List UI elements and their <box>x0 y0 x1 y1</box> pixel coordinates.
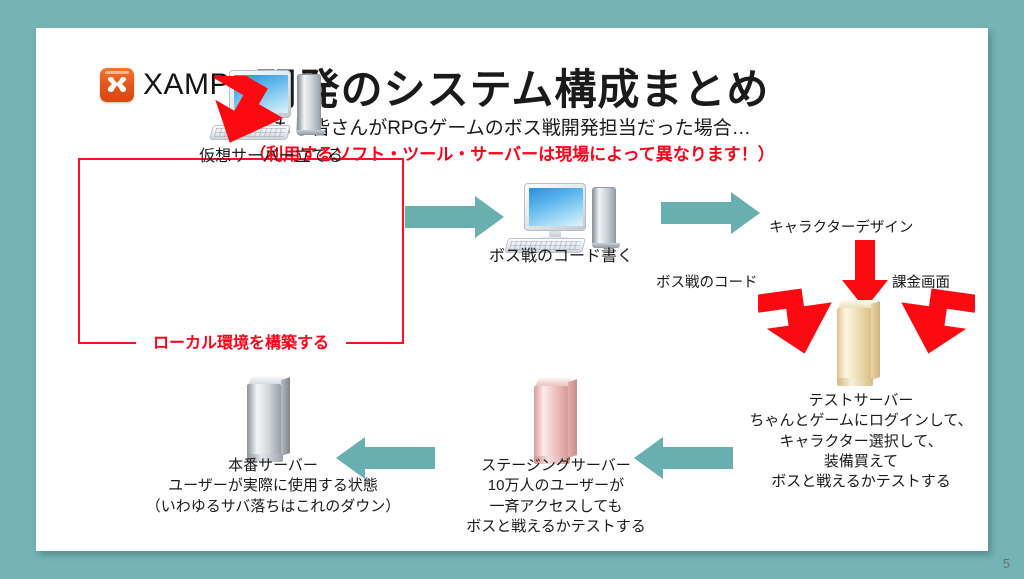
slide-root: 開発のシステム構成まとめ もし皆さんがRPGゲームのボス戦開発担当だった場合… … <box>0 0 1024 579</box>
test-input-left-label: ボス戦のコード <box>656 271 758 292</box>
red-arrow-billing-screen <box>891 286 975 358</box>
local-environment-box-bottom-right <box>338 342 404 344</box>
pc-tower <box>592 187 616 245</box>
local-server-caption: 仮想サーバー立てる <box>166 146 376 168</box>
local-environment-box <box>78 158 404 344</box>
slide-canvas: 開発のシステム構成まとめ もし皆さんがRPGゲームのボス戦開発担当だった場合… … <box>36 28 988 551</box>
server-foot <box>837 378 873 386</box>
staging-server-caption: ステージングサーバー 10万人のユーザーが 一斉アクセスしても ボスと戦えるかテ… <box>421 456 691 537</box>
local-environment-label: ローカル環境を構築する <box>136 329 346 353</box>
red-arrow-boss-code <box>758 286 842 358</box>
server-side <box>281 377 290 456</box>
page-number: 5 <box>1003 556 1010 571</box>
staging-server-icon <box>528 378 584 468</box>
xampp-icon <box>100 68 134 102</box>
production-server-icon <box>241 376 297 466</box>
server-front <box>837 308 871 380</box>
monitor-bezel <box>524 183 586 231</box>
code-step-caption: ボス戦のコード書く <box>456 246 666 268</box>
server-side <box>568 379 577 458</box>
server-side <box>871 301 880 380</box>
code-computer-icon <box>506 183 621 253</box>
test-input-top-label: キャラクターデザイン <box>769 216 913 237</box>
server-front <box>247 384 281 456</box>
test-server-icon <box>831 300 887 390</box>
teal-arrow-code-to-test <box>661 191 761 235</box>
test-server-caption: テストサーバー ちゃんとゲームにログインして、 キャラクター選択して、 装備買え… <box>716 391 1006 492</box>
page-subtitle: もし皆さんがRPGゲームのボス戦開発担当だった場合… <box>36 113 988 140</box>
production-server-caption: 本番サーバー ユーザーが実際に使用する状態 （いわゆるサバ落ちはこれのダウン） <box>128 456 418 517</box>
monitor-screen <box>529 188 583 226</box>
server-front <box>534 386 568 458</box>
teal-arrow-local-to-code <box>405 195 505 239</box>
